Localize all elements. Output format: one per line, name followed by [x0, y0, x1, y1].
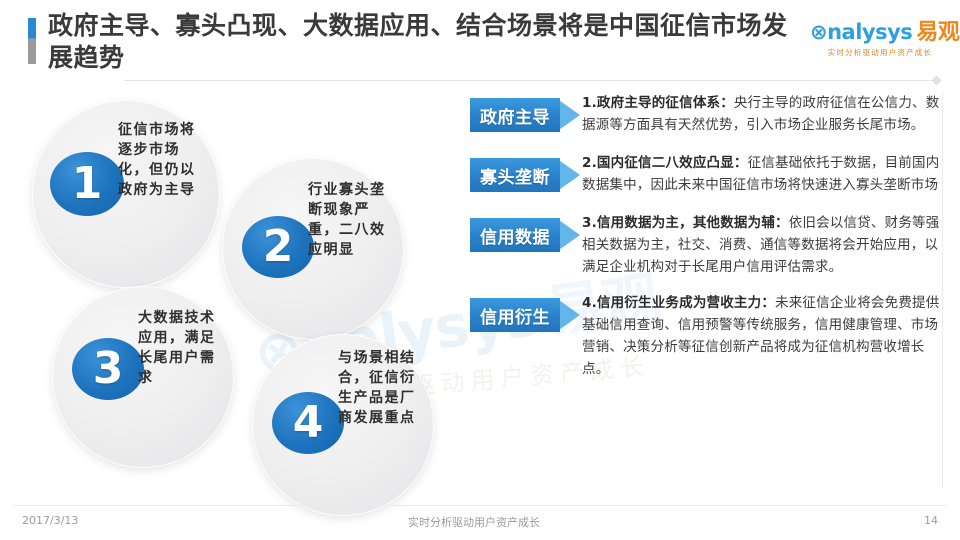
footer-divider — [14, 505, 946, 506]
logo-cn-text: 易观 — [916, 20, 959, 45]
point-item-1: 政府主导 1.政府主导的征信体系：央行主导的政府征信在公信力、数据源等方面具有天… — [470, 92, 948, 136]
bubble-2: 2 行业寡头垄断现象严重，二八效应明显 — [222, 158, 404, 340]
bubble-4-number: 4 — [272, 392, 344, 454]
point-2-heading: 2.国内征信二八效应凸显： — [582, 155, 748, 171]
point-2-badge-wrap: 寡头垄断 — [470, 158, 582, 192]
point-item-3: 信用数据 3.信用数据为主，其他数据为辅：依旧会以信贷、财务等强相关数据为主，社… — [470, 212, 948, 278]
bubble-2-label: 行业寡头垄断现象严重，二八效应明显 — [308, 180, 388, 260]
page-title: 政府主导、寡头凸现、大数据应用、结合场景将是中国征信市场发展趋势 — [48, 10, 808, 74]
header-divider — [124, 80, 936, 81]
analysys-logo: ⊗nalysys易观 实时分析驱动用户资产成长 — [810, 14, 950, 58]
point-3-badge-label: 信用数据 — [480, 223, 550, 248]
point-1-badge-label: 政府主导 — [480, 103, 550, 128]
point-3-badge-wrap: 信用数据 — [470, 218, 582, 252]
slide-header: 政府主导、寡头凸现、大数据应用、结合场景将是中国征信市场发展趋势 ⊗nalysy… — [0, 0, 960, 80]
footer-page-number: 14 — [924, 514, 938, 527]
point-item-2: 寡头垄断 2.国内征信二八效应凸显：征信基础依托于数据，目前国内数据集中，因此未… — [470, 152, 948, 196]
point-3-badge: 信用数据 — [470, 218, 560, 252]
slide-footer: 2017/3/13 实时分析驱动用户资产成长 14 — [0, 510, 960, 534]
point-3-text: 3.信用数据为主，其他数据为辅：依旧会以信贷、财务等强相关数据为主，社交、消费、… — [582, 212, 948, 278]
bubble-1-label: 征信市场将逐步市场化，但仍以政府为主导 — [118, 120, 204, 200]
footer-date: 2017/3/13 — [22, 514, 78, 527]
point-1-badge-wrap: 政府主导 — [470, 98, 582, 132]
bubble-3-number: 3 — [72, 338, 144, 400]
point-4-badge-label: 信用衍生 — [480, 303, 550, 328]
logo-tagline: 实时分析驱动用户资产成长 — [810, 47, 950, 58]
point-4-heading: 4.信用衍生业务成为营收主力： — [582, 295, 775, 311]
bubble-3: 3 大数据技术应用，满足长尾用户需求 — [52, 286, 234, 468]
slide-root: 政府主导、寡头凸现、大数据应用、结合场景将是中国征信市场发展趋势 ⊗nalysy… — [0, 0, 960, 540]
point-list: 政府主导 1.政府主导的征信体系：央行主导的政府征信在公信力、数据源等方面具有天… — [470, 92, 948, 380]
logo-mark-icon: ⊗ — [810, 20, 827, 44]
point-2-text: 2.国内征信二八效应凸显：征信基础依托于数据，目前国内数据集中，因此未来中国征信… — [582, 152, 948, 196]
point-4-text: 4.信用衍生业务成为营收主力：未来征信企业将会免费提供基础信用查询、信用预警等传… — [582, 292, 948, 380]
bubble-1: 1 征信市场将逐步市场化，但仍以政府为主导 — [32, 100, 220, 288]
point-4-badge: 信用衍生 — [470, 298, 560, 332]
bubble-4: 4 与场景相结合，征信衍生产品是厂商发展重点 — [252, 334, 434, 516]
point-4-badge-wrap: 信用衍生 — [470, 298, 582, 332]
bubble-1-number: 1 — [50, 152, 124, 216]
bubble-group: 1 征信市场将逐步市场化，但仍以政府为主导 2 行业寡头垄断现象严重，二八效应明… — [0, 84, 470, 504]
logo-main-text: nalysys — [827, 20, 912, 44]
point-2-badge: 寡头垄断 — [470, 158, 560, 192]
bubble-3-label: 大数据技术应用，满足长尾用户需求 — [138, 308, 222, 388]
point-item-4: 信用衍生 4.信用衍生业务成为营收主力：未来征信企业将会免费提供基础信用查询、信… — [470, 292, 948, 380]
logo-wordmark: ⊗nalysys易观 — [810, 14, 950, 46]
point-2-badge-label: 寡头垄断 — [480, 163, 550, 188]
bubble-2-number: 2 — [242, 216, 314, 278]
point-3-heading: 3.信用数据为主，其他数据为辅： — [582, 215, 789, 231]
point-1-text: 1.政府主导的征信体系：央行主导的政府征信在公信力、数据源等方面具有天然优势，引… — [582, 92, 948, 136]
point-1-heading: 1.政府主导的征信体系： — [582, 95, 734, 111]
bubble-4-label: 与场景相结合，征信衍生产品是厂商发展重点 — [338, 348, 422, 428]
point-1-badge: 政府主导 — [470, 98, 560, 132]
title-accent-bar — [28, 18, 36, 64]
footer-tagline: 实时分析驱动用户资产成长 — [408, 514, 540, 530]
right-vertical-divider — [942, 92, 943, 488]
